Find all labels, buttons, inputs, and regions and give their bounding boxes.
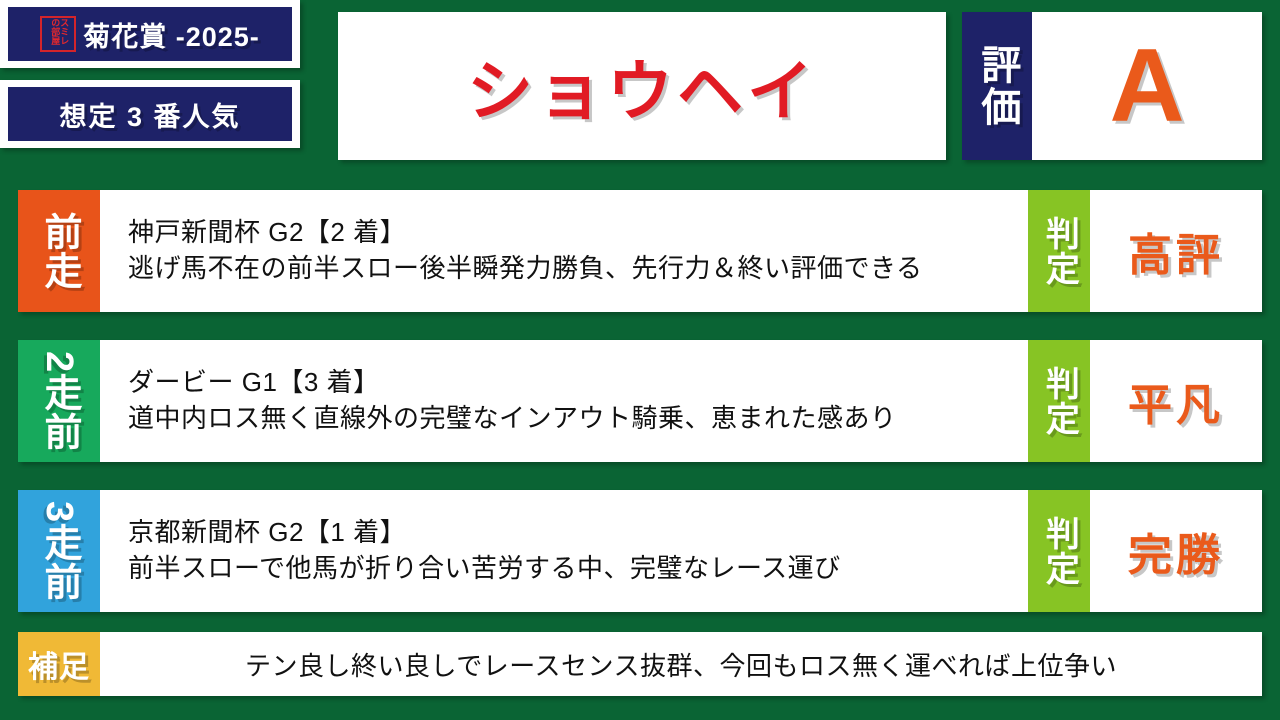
race-title: 京都新聞杯 G2【1 着】: [128, 515, 1018, 551]
verdict-tag: 判定: [1028, 190, 1090, 312]
rating-value-box: A: [1032, 12, 1262, 160]
race-row-tag: 前走: [18, 190, 100, 312]
verdict-value: 平凡: [1128, 369, 1224, 433]
stamp-seal-text: スミレの部屋: [49, 18, 67, 50]
verdict-tag: 判定: [1028, 340, 1090, 462]
race-row-tag: 2走前: [18, 340, 100, 462]
stamp-seal-icon: スミレの部屋: [40, 16, 76, 52]
footnote-text: テン良し終い良しでレースセンス抜群、今回もロス無く運べれば上位争い: [245, 646, 1117, 683]
race-row-body: 神戸新聞杯 G2【2 着】 逃げ馬不在の前半スロー後半瞬発力勝負、先行力＆終い評…: [100, 190, 1028, 312]
race-comment: 前半スローで他馬が折り合い苦労する中、完璧なレース運び: [128, 551, 1018, 587]
verdict-tag-label: 判定: [1042, 516, 1077, 586]
verdict-tag: 判定: [1028, 490, 1090, 612]
race-title-badge-inner: スミレの部屋 菊花賞 -2025-: [8, 7, 292, 61]
header: スミレの部屋 菊花賞 -2025- 想定 3 番人気 ショウヘイ 評価 A: [0, 0, 1280, 172]
race-row: 2走前 ダービー G1【3 着】 道中内ロス無く直線外の完璧なインアウト騎乗、恵…: [18, 340, 1262, 462]
race-row-tag: 3走前: [18, 490, 100, 612]
race-row-body: 京都新聞杯 G2【1 着】 前半スローで他馬が折り合い苦労する中、完璧なレース運…: [100, 490, 1028, 612]
rating-grade: A: [1109, 34, 1184, 138]
race-row-tag-label: 前走: [40, 212, 78, 290]
race-row-tag-label: 2走前: [40, 351, 78, 451]
race-title: ダービー G1【3 着】: [128, 365, 1018, 401]
rating-card: 評価 A: [962, 12, 1262, 160]
footnote-row: 補足 テン良し終い良しでレースセンス抜群、今回もロス無く運べれば上位争い: [18, 632, 1262, 696]
popularity-label: 想定 3 番人気: [59, 95, 240, 134]
race-row: 3走前 京都新聞杯 G2【1 着】 前半スローで他馬が折り合い苦労する中、完璧な…: [18, 490, 1262, 612]
verdict-tag-label: 判定: [1042, 366, 1077, 436]
race-title-badge: スミレの部屋 菊花賞 -2025-: [0, 0, 300, 68]
race-title-label: 菊花賞 -2025-: [83, 15, 260, 54]
verdict-tag-label: 判定: [1042, 216, 1077, 286]
rating-label: 評価: [977, 44, 1018, 128]
horse-name-card: ショウヘイ: [338, 12, 946, 160]
horse-name: ショウヘイ: [467, 38, 817, 134]
footnote-tag: 補足: [18, 632, 100, 696]
verdict-value: 完勝: [1128, 519, 1224, 583]
popularity-badge-inner: 想定 3 番人気: [8, 87, 292, 141]
race-row-tag-label: 3走前: [40, 501, 78, 601]
header-badge-stack: スミレの部屋 菊花賞 -2025- 想定 3 番人気: [0, 0, 300, 148]
race-row: 前走 神戸新聞杯 G2【2 着】 逃げ馬不在の前半スロー後半瞬発力勝負、先行力＆…: [18, 190, 1262, 312]
verdict-value: 高評: [1128, 219, 1224, 283]
verdict-value-box: 高評: [1090, 190, 1262, 312]
rating-label-box: 評価: [962, 12, 1032, 160]
race-comment: 道中内ロス無く直線外の完璧なインアウト騎乗、恵まれた感あり: [128, 401, 1018, 437]
verdict-value-box: 完勝: [1090, 490, 1262, 612]
race-title: 神戸新聞杯 G2【2 着】: [128, 215, 1018, 251]
popularity-badge: 想定 3 番人気: [0, 80, 300, 148]
race-comment: 逃げ馬不在の前半スロー後半瞬発力勝負、先行力＆終い評価できる: [128, 251, 1018, 287]
verdict-value-box: 平凡: [1090, 340, 1262, 462]
footnote-tag-label: 補足: [28, 642, 90, 686]
race-row-body: ダービー G1【3 着】 道中内ロス無く直線外の完璧なインアウト騎乗、恵まれた感…: [100, 340, 1028, 462]
footnote-body: テン良し終い良しでレースセンス抜群、今回もロス無く運べれば上位争い: [100, 632, 1262, 696]
